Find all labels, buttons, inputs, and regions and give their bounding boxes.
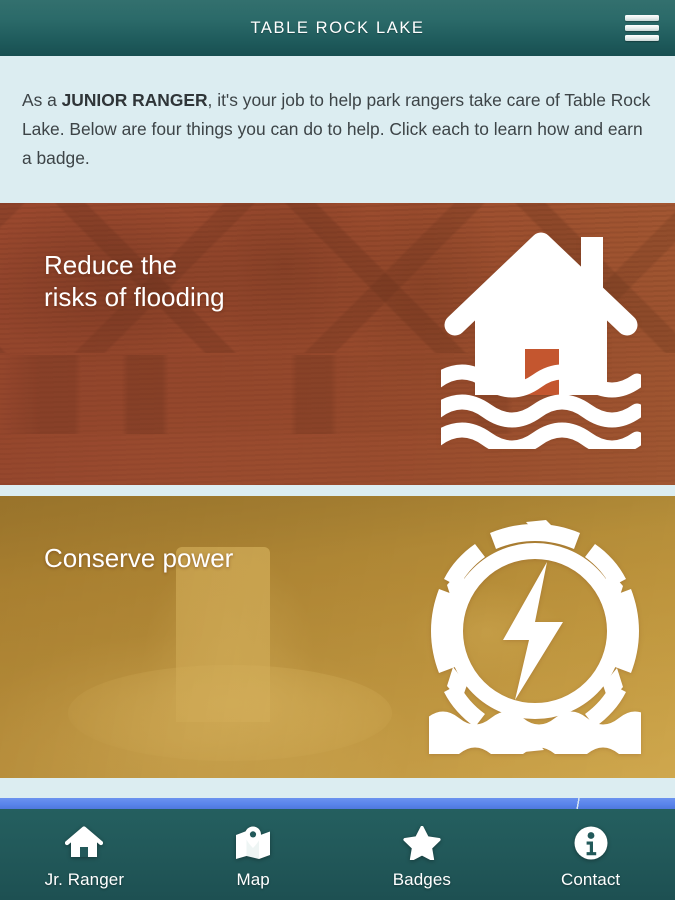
- hydro-turbine-icon: [429, 518, 641, 754]
- hamburger-bar-2: [625, 25, 659, 31]
- nav-label-jr-ranger: Jr. Ranger: [45, 870, 124, 890]
- nav-item-contact[interactable]: Contact: [506, 809, 675, 900]
- bottom-navigation-bar: Jr. Ranger Map Badges: [0, 809, 675, 900]
- hamburger-menu-icon[interactable]: [625, 15, 659, 41]
- hamburger-bar-1: [625, 15, 659, 21]
- nav-label-contact: Contact: [561, 870, 620, 890]
- hamburger-bar-3: [625, 35, 659, 41]
- intro-emphasis: JUNIOR RANGER: [62, 90, 208, 110]
- nav-item-jr-ranger[interactable]: Jr. Ranger: [0, 809, 169, 900]
- info-icon: [571, 824, 611, 862]
- page-title: TABLE ROCK LAKE: [250, 19, 424, 38]
- card-conserve-power[interactable]: Conserve power: [0, 496, 675, 778]
- map-pin-icon: [233, 824, 273, 862]
- nav-item-map[interactable]: Map: [169, 809, 338, 900]
- card-reduce-flooding-risks[interactable]: Reduce the risks of flooding: [0, 203, 675, 485]
- card-title-flooding: Reduce the risks of flooding: [44, 249, 225, 313]
- home-icon: [64, 824, 104, 862]
- intro-lead-in: As a: [22, 90, 62, 110]
- star-icon: [402, 824, 442, 862]
- app-root: TABLE ROCK LAKE As a JUNIOR RANGER, it's…: [0, 0, 675, 900]
- intro-panel: As a JUNIOR RANGER, it's your job to hel…: [0, 56, 675, 203]
- card-title-power: Conserve power: [44, 542, 233, 574]
- nav-item-badges[interactable]: Badges: [338, 809, 507, 900]
- nav-label-badges: Badges: [393, 870, 451, 890]
- app-header: TABLE ROCK LAKE: [0, 0, 675, 56]
- scroll-progress-bar[interactable]: [0, 798, 675, 809]
- flooded-house-icon: [441, 229, 641, 449]
- nav-label-map: Map: [236, 870, 269, 890]
- intro-paragraph: As a JUNIOR RANGER, it's your job to hel…: [0, 86, 675, 173]
